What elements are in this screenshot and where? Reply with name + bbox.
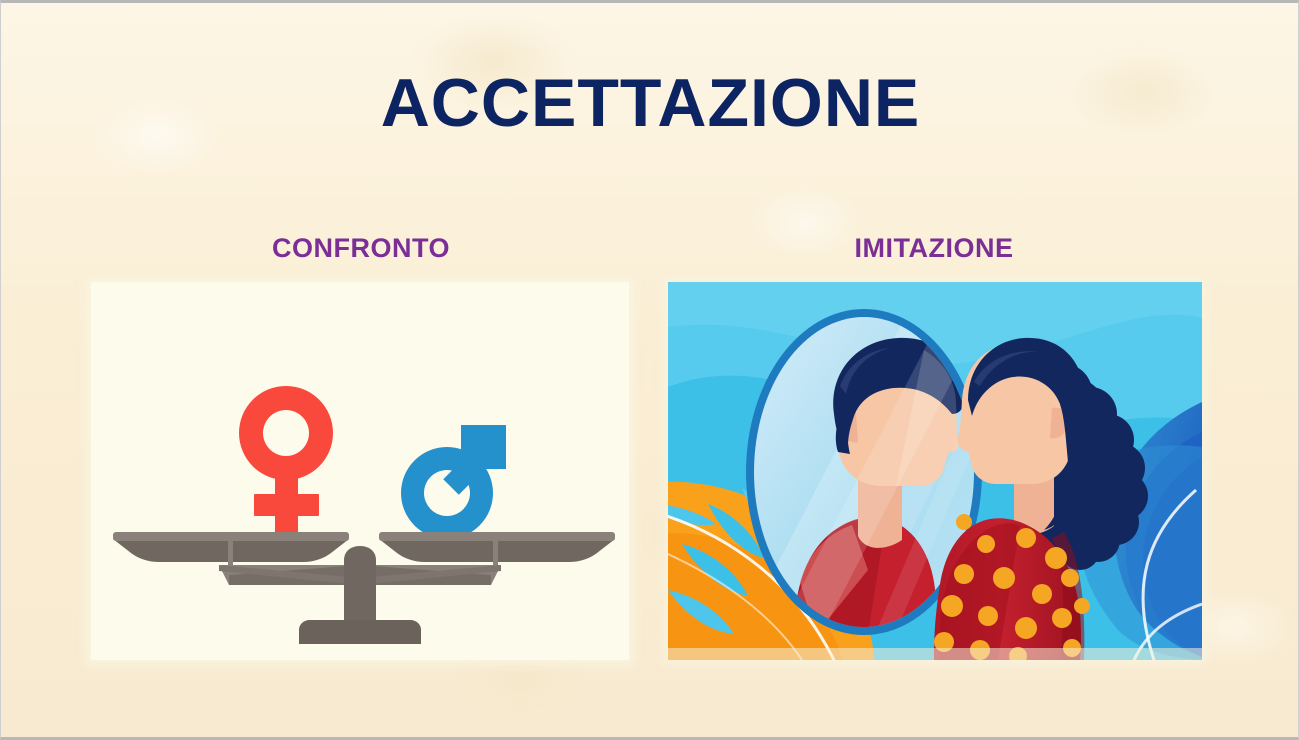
- page-title: ACCETTAZIONE: [1, 69, 1299, 137]
- illustration-mirror-reflection: [668, 282, 1202, 660]
- mirror-reflection-graphic: [668, 282, 1202, 660]
- slide-canvas: ACCETTAZIONE CONFRONTO IMITAZIONE: [0, 0, 1299, 740]
- column-label-imitazione: IMITAZIONE: [754, 235, 1114, 262]
- illustration-balance-scale: [91, 282, 629, 660]
- balance-scale-graphic: [91, 282, 629, 660]
- column-label-confronto: CONFRONTO: [181, 235, 541, 262]
